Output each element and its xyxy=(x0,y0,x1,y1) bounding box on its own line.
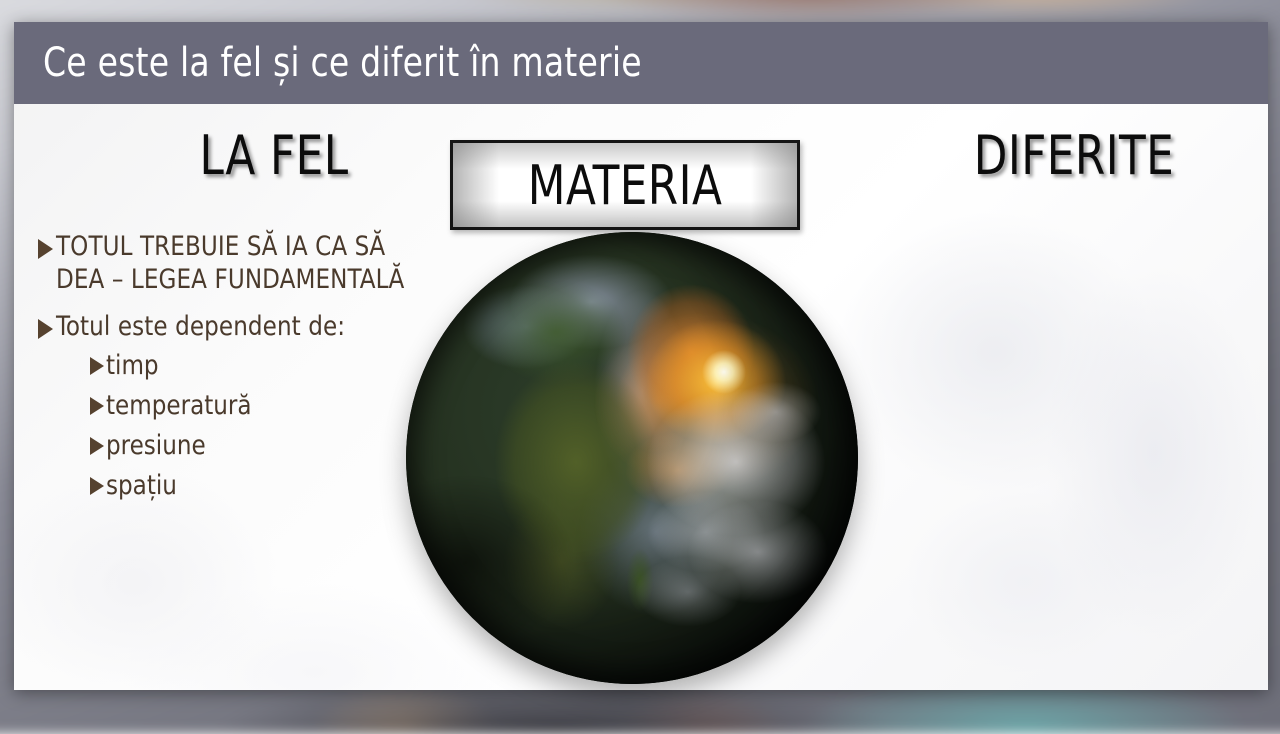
list-item-label: timp xyxy=(106,349,159,382)
column-header-diferite: DIFERITE xyxy=(930,124,1218,187)
slide-body: LA FEL MATERIA DIFERITE TOTUL TREBUIE SĂ… xyxy=(14,104,1268,690)
list-item-label: presiune xyxy=(106,429,206,462)
list-item: timp xyxy=(90,349,458,382)
earth-globe-image xyxy=(406,232,858,684)
list-item-label: spațiu xyxy=(106,469,177,502)
list-item: TOTUL TREBUIE SĂ IA CA SĂ DEA – LEGEA FU… xyxy=(38,230,458,296)
triangle-bullet-icon xyxy=(90,397,104,415)
triangle-bullet-icon xyxy=(90,357,104,375)
triangle-bullet-icon xyxy=(90,437,104,455)
list-item-label: TOTUL TREBUIE SĂ IA CA SĂ DEA – LEGEA FU… xyxy=(56,230,438,296)
triangle-bullet-icon xyxy=(38,239,53,259)
list-item: temperatură xyxy=(90,389,458,422)
column-header-la-fel: LA FEL xyxy=(148,124,400,187)
bullet-list: TOTUL TREBUIE SĂ IA CA SĂ DEA – LEGEA FU… xyxy=(38,230,458,509)
triangle-bullet-icon xyxy=(90,477,104,495)
list-item: spațiu xyxy=(90,469,458,502)
globe-rim-layer xyxy=(406,232,858,684)
triangle-bullet-icon xyxy=(38,319,53,339)
column-header-materia-label: MATERIA xyxy=(528,154,722,217)
list-item: presiune xyxy=(90,429,458,462)
list-item-label: Totul este dependent de: xyxy=(56,310,345,343)
slide-title: Ce este la fel și ce diferit în materie xyxy=(43,40,642,86)
presentation-slide: Ce este la fel și ce diferit în materie … xyxy=(14,22,1268,690)
list-item: Totul este dependent de: xyxy=(38,310,458,343)
slide-title-bar: Ce este la fel și ce diferit în materie xyxy=(14,22,1268,104)
column-header-materia-box: MATERIA xyxy=(450,140,800,230)
list-item-label: temperatură xyxy=(106,389,251,422)
